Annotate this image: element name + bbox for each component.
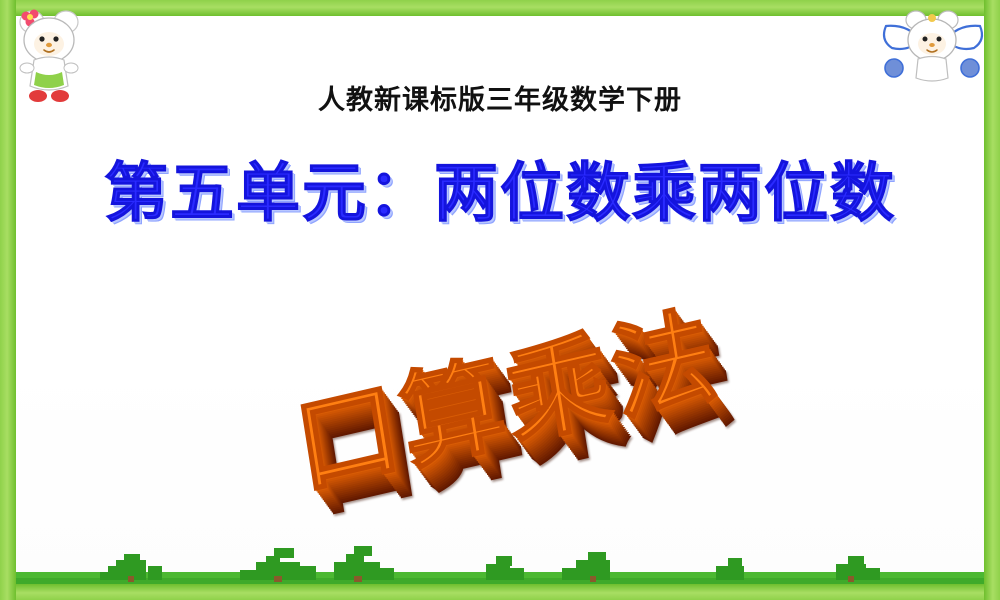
slide-unit-title: 第五单元：两位数乘两位数 (0, 158, 1000, 232)
slide-canvas: 人教新课标版三年级数学下册 第五单元：两位数乘两位数 口算乘法 (0, 0, 1000, 600)
frame-border-top (0, 0, 1000, 16)
slide-art-title-area: 口算乘法 (0, 296, 1000, 546)
slide-art-title: 口算乘法 (284, 268, 729, 515)
slide-subtitle: 人教新课标版三年级数学下册 (0, 78, 1000, 117)
bottom-grass-scene (16, 538, 984, 584)
frame-border-bottom (0, 584, 1000, 600)
